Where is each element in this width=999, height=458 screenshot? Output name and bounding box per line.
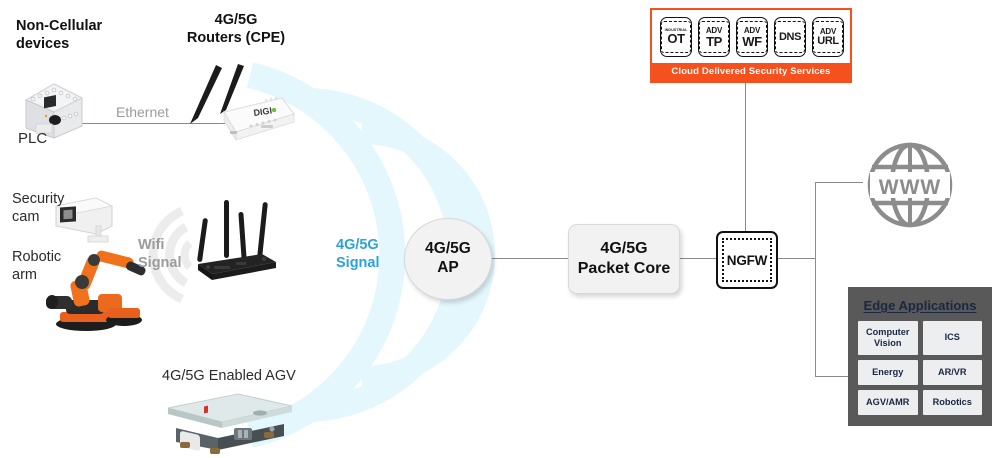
edge-tile-computer-vision[interactable]: Computer Vision	[858, 321, 918, 355]
label-4g5g-routers-cpe: 4G/5G Routers (CPE)	[176, 12, 296, 47]
edge-tile-arvr[interactable]: AR/VR	[923, 360, 983, 385]
edge-tile-computer-vision-l2: Vision	[874, 338, 901, 348]
badge-dns[interactable]: DNS	[774, 17, 806, 57]
agv-icon	[160, 386, 300, 454]
label-non-cellular-line2: devices	[16, 36, 69, 52]
www-globe-icon: WWW	[860, 142, 960, 228]
wifi-router-icon	[184, 196, 284, 286]
node-4g5g-packet-core[interactable]: 4G/5G Packet Core	[568, 224, 680, 294]
label-wifi-signal: Wifi Signal	[138, 236, 182, 272]
ngfw-label: NGFW	[722, 238, 772, 282]
cloud-security-banner: Cloud Delivered Security Services	[652, 63, 850, 81]
link-trunk-to-edge-apps	[815, 376, 850, 377]
label-robotic-arm-line2: arm	[12, 267, 37, 283]
label-4g5g-signal-line1: 4G/5G	[336, 237, 379, 253]
edge-tile-computer-vision-l1: Computer	[866, 327, 909, 337]
label-security-cam-line1: Security	[12, 191, 64, 207]
link-packetcore-to-ngfw	[678, 258, 716, 259]
label-4g5g-signal-line2: Signal	[336, 255, 380, 271]
cloud-security-badge-row: INDUSTRIAL OT ADV TP ADV WF DNS	[652, 10, 850, 63]
link-trunk-to-www	[815, 182, 863, 183]
label-wifi-signal-line2: Signal	[138, 255, 182, 271]
edge-tile-energy[interactable]: Energy	[858, 360, 918, 385]
label-robotic-arm: Robotic arm	[12, 248, 61, 284]
node-packet-core-line2: Packet Core	[578, 260, 671, 277]
cloud-security-services-panel[interactable]: INDUSTRIAL OT ADV TP ADV WF DNS	[650, 8, 852, 83]
label-robotic-arm-line1: Robotic	[12, 249, 61, 265]
label-ethernet: Ethernet	[116, 104, 169, 121]
edge-tile-agv-amr[interactable]: AGV/AMR	[858, 390, 918, 415]
link-ngfw-to-cloud-security	[745, 76, 746, 232]
edge-applications-grid: Computer Vision ICS Energy AR/VR AGV/AMR…	[858, 321, 982, 415]
edge-tile-ics[interactable]: ICS	[923, 321, 983, 355]
cpe-router-icon: DIGI	[178, 52, 298, 144]
badge-adv-wf[interactable]: ADV WF	[736, 17, 768, 57]
badge-adv-wf-big: WF	[742, 35, 761, 48]
badge-adv-url-big: URL	[817, 36, 838, 47]
edge-applications-panel[interactable]: Edge Applications Computer Vision ICS En…	[848, 287, 992, 426]
edge-tile-robotics[interactable]: Robotics	[923, 390, 983, 415]
node-4g5g-ap[interactable]: 4G/5G AP	[404, 218, 492, 300]
badge-adv-tp-big: TP	[706, 35, 722, 48]
node-packet-core-line1: 4G/5G	[600, 240, 647, 257]
badge-ot[interactable]: INDUSTRIAL OT	[660, 17, 692, 57]
badge-adv-url[interactable]: ADV URL	[812, 17, 844, 57]
node-ap-line1: 4G/5G	[425, 240, 471, 257]
node-ngfw[interactable]: NGFW	[716, 231, 778, 289]
label-routers-line2: Routers (CPE)	[187, 30, 285, 46]
badge-adv-tp[interactable]: ADV TP	[698, 17, 730, 57]
node-ap-line2: AP	[437, 259, 459, 276]
edge-applications-title: Edge Applications	[858, 298, 982, 313]
label-wifi-signal-line1: Wifi	[138, 237, 164, 253]
label-non-cellular-devices: Non-Cellular devices	[16, 18, 102, 53]
label-plc: PLC	[18, 130, 47, 148]
right-trunk-line	[815, 182, 816, 377]
label-4g5g-signal: 4G/5G Signal	[336, 236, 380, 272]
link-ngfw-to-trunk	[774, 258, 816, 259]
label-non-cellular-line1: Non-Cellular	[16, 18, 102, 34]
diagram-canvas: DIGI	[0, 0, 999, 458]
link-ap-to-packetcore	[488, 258, 568, 259]
www-text: WWW	[879, 176, 941, 199]
badge-dns-big: DNS	[779, 32, 801, 43]
label-agv: 4G/5G Enabled AGV	[162, 368, 296, 386]
label-security-cam: Security cam	[12, 190, 64, 226]
label-security-cam-line2: cam	[12, 209, 39, 225]
label-routers-line1: 4G/5G	[215, 12, 258, 28]
badge-ot-big: OT	[667, 32, 684, 45]
